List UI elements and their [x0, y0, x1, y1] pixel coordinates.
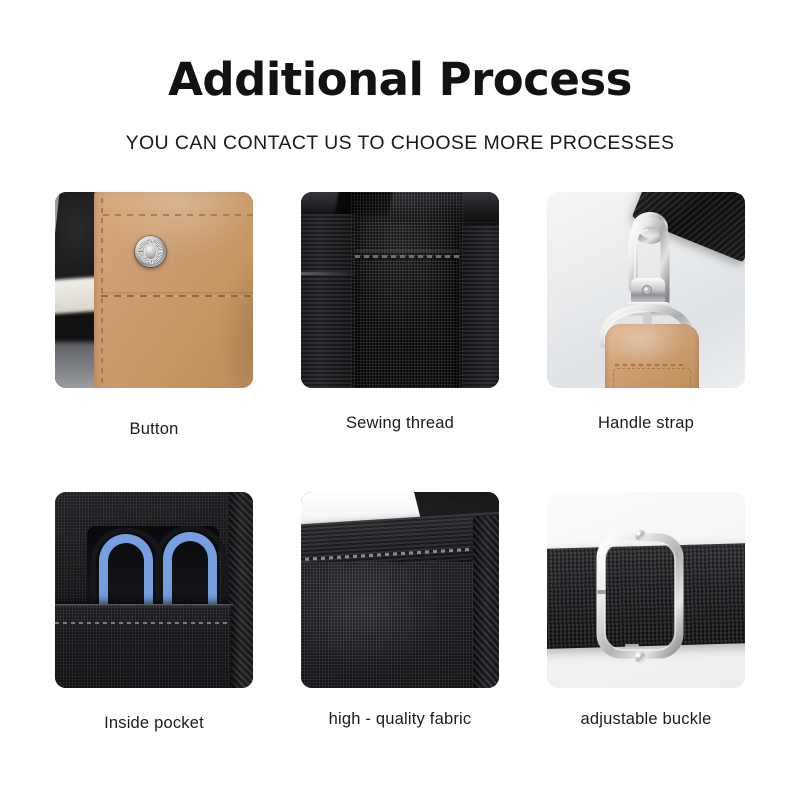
infographic-page: Additional Process YOU CAN CONTACT US TO…	[0, 0, 800, 800]
side-webbing-band	[473, 516, 499, 688]
sewing-thread-line	[355, 255, 459, 258]
button-photo	[55, 192, 253, 388]
sewing-thread-photo	[301, 192, 499, 388]
adjustable-buckle-photo	[547, 492, 745, 688]
leather-tab-stitch-box	[613, 368, 691, 388]
grid-item-sewing-thread[interactable]: Sewing thread	[301, 192, 499, 388]
leather-tab-stitch-line	[615, 364, 687, 366]
item-caption: high - quality fabric	[285, 708, 515, 730]
item-caption: adjustable buckle	[531, 708, 761, 730]
item-caption: Handle strap	[531, 412, 761, 434]
item-caption: Sewing thread	[285, 412, 515, 434]
item-caption: Button	[39, 418, 269, 440]
top-stitch-line	[103, 214, 253, 216]
left-webbing-strap	[301, 214, 355, 388]
grid-item-button[interactable]: Button	[55, 192, 253, 388]
buckle-icon	[547, 492, 745, 688]
blue-clip-left-icon	[99, 534, 153, 612]
middle-stitch-line	[101, 295, 253, 297]
stitch-fold-shadow	[355, 250, 459, 254]
canvas-body	[301, 562, 489, 688]
leather-panel	[94, 192, 253, 388]
pocket-hem-edge	[55, 604, 233, 607]
snap-button-icon	[135, 236, 166, 267]
pocket-front-panel	[55, 604, 231, 688]
grid-item-fabric[interactable]: high - quality fabric	[301, 492, 499, 688]
process-grid: Button Sewing thread	[0, 0, 800, 800]
grid-item-inside-pocket[interactable]: Inside pocket	[55, 492, 253, 688]
side-webbing-band	[229, 492, 253, 688]
right-webbing-strap	[459, 226, 499, 388]
item-caption: Inside pocket	[39, 712, 269, 734]
fabric-photo	[301, 492, 499, 688]
inside-pocket-photo	[55, 492, 253, 688]
grid-item-adjustable-buckle[interactable]: adjustable buckle	[547, 492, 745, 688]
handle-strap-photo	[547, 192, 745, 388]
grid-item-handle-strap[interactable]: Handle strap	[547, 192, 745, 388]
left-strap-fold	[301, 272, 355, 275]
center-webbing-strap	[351, 192, 463, 388]
blue-clip-right-icon	[163, 532, 217, 610]
pocket-hem-stitch	[55, 622, 231, 624]
